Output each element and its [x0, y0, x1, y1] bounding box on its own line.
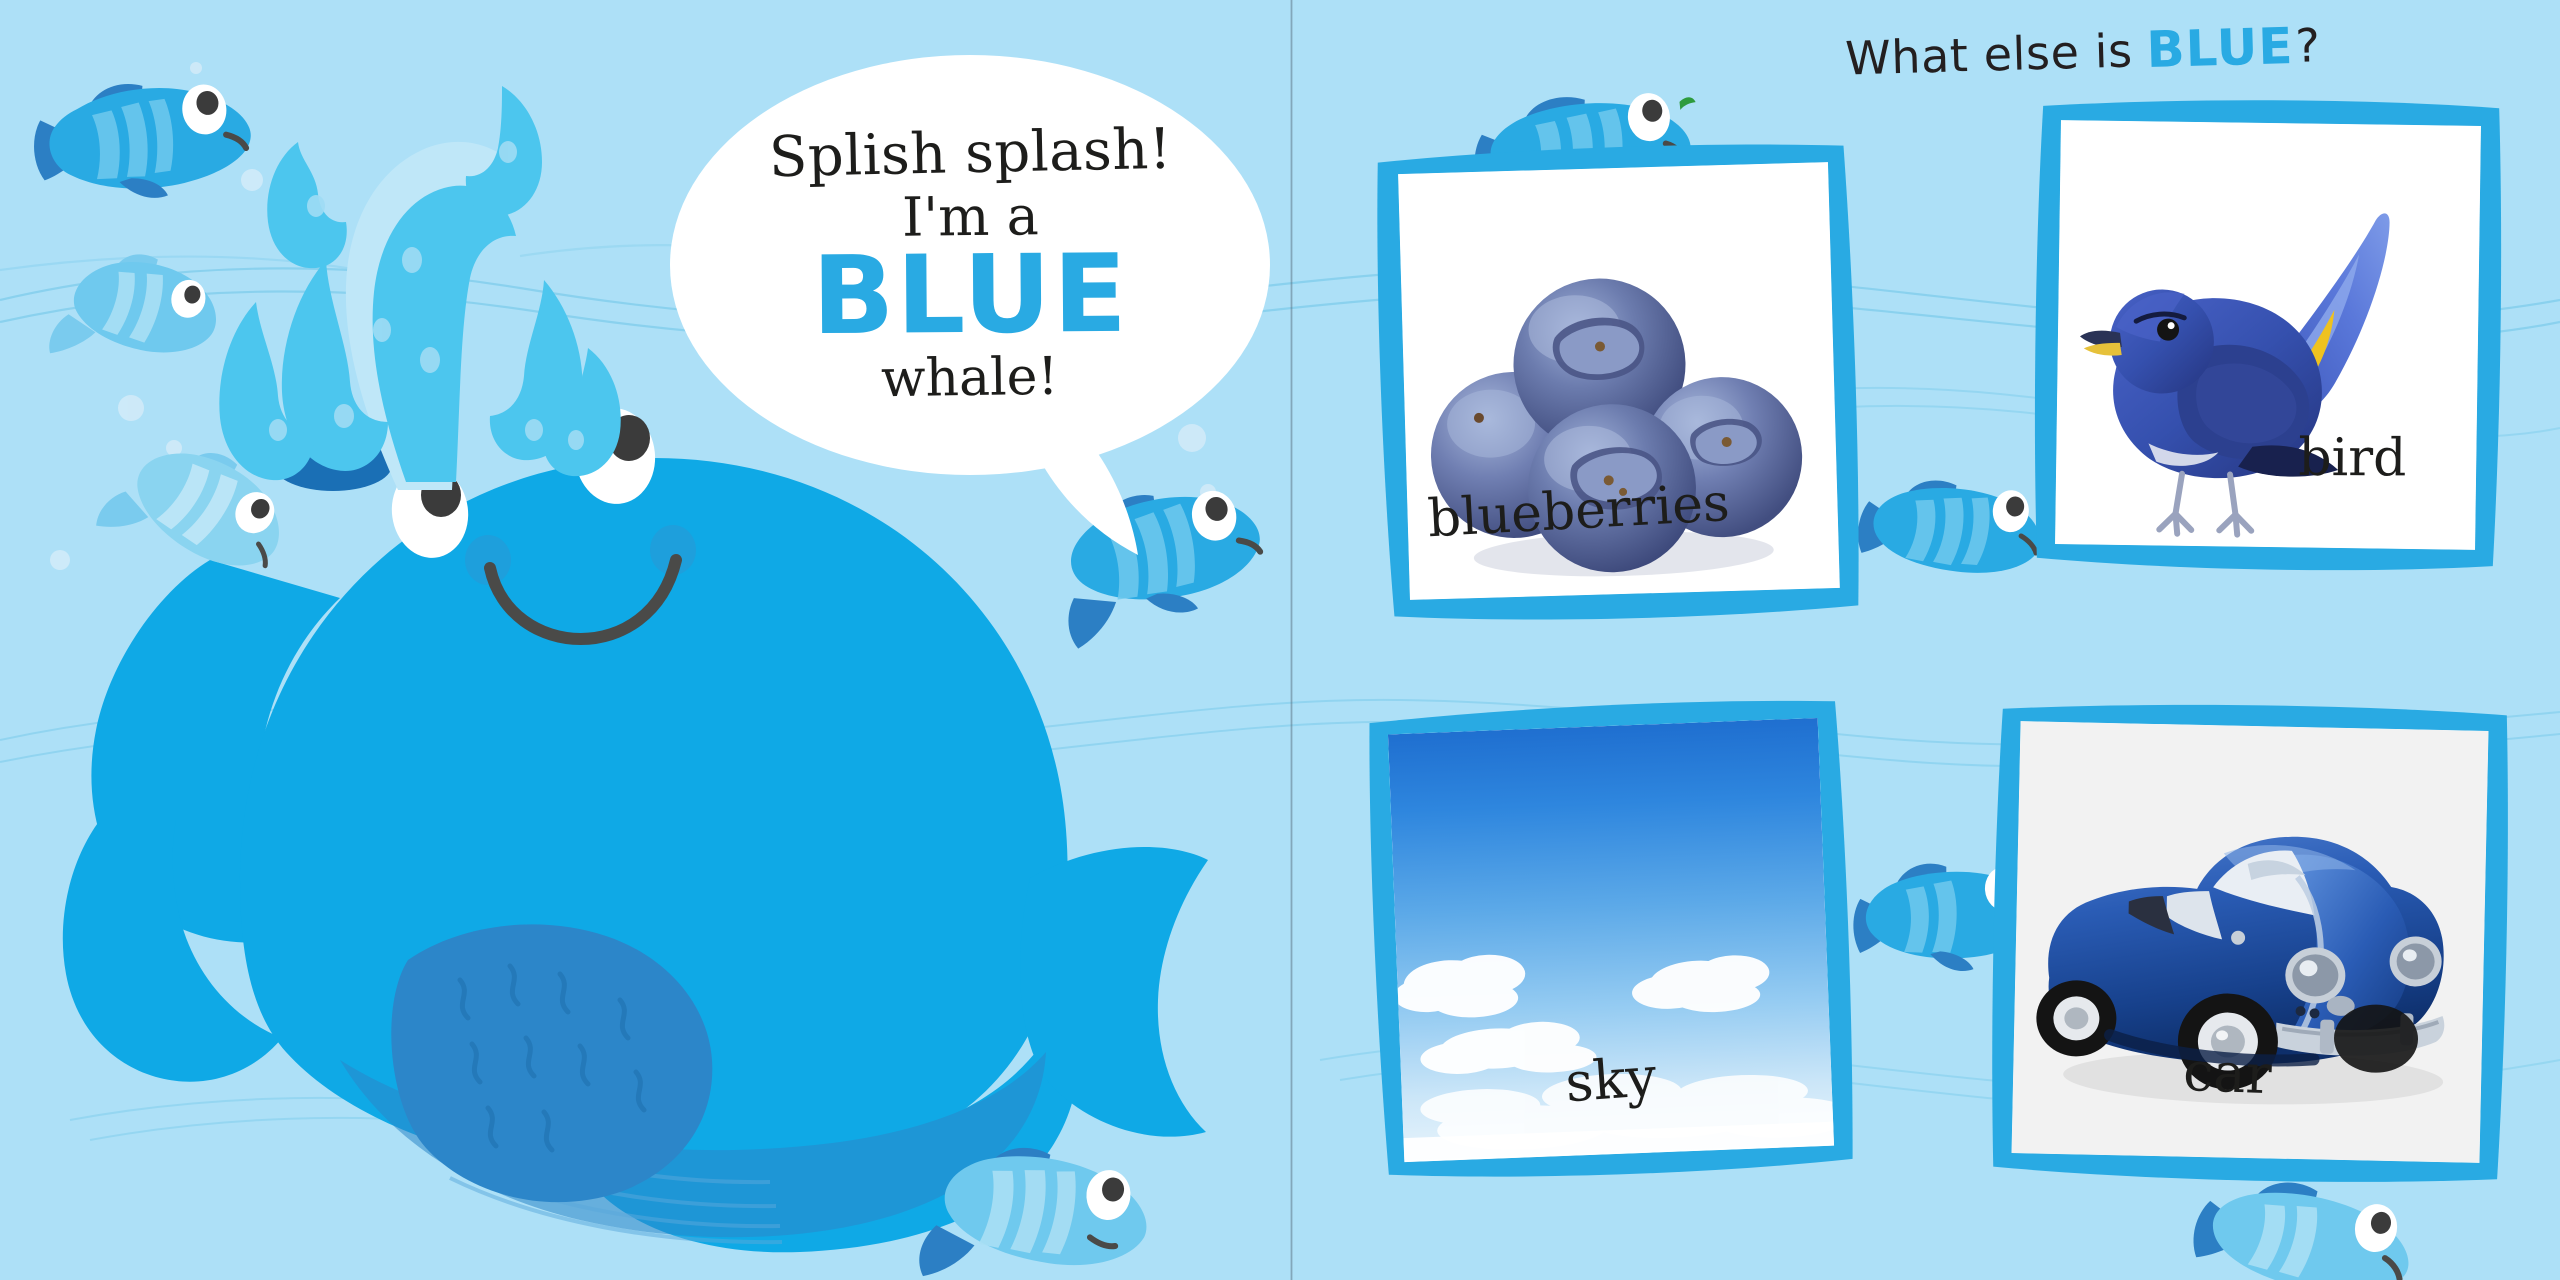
fish-icon [913, 1128, 1167, 1280]
book-spread: Splish splash! I'm a BLUE whale! What el… [0, 0, 2560, 1280]
card-label-car: car [2182, 1040, 2273, 1106]
card-label-sky: sky [1563, 1045, 1658, 1114]
card-label-bird: bird [2298, 428, 2406, 489]
card-bird[interactable]: bird [2029, 92, 2508, 579]
header-highlight-blue: BLUE [2146, 17, 2295, 79]
header-question-mark: ? [2295, 18, 2321, 73]
fish-icon [1851, 469, 2049, 602]
photo-bird [2055, 120, 2481, 550]
card-car[interactable]: car [1985, 695, 2515, 1191]
card-sky[interactable]: sky [1363, 691, 1861, 1189]
card-blueberries[interactable]: blueberries [1371, 133, 1866, 631]
header-prefix: What else is [1845, 23, 2134, 85]
page-gutter-divider [1290, 0, 1293, 1280]
